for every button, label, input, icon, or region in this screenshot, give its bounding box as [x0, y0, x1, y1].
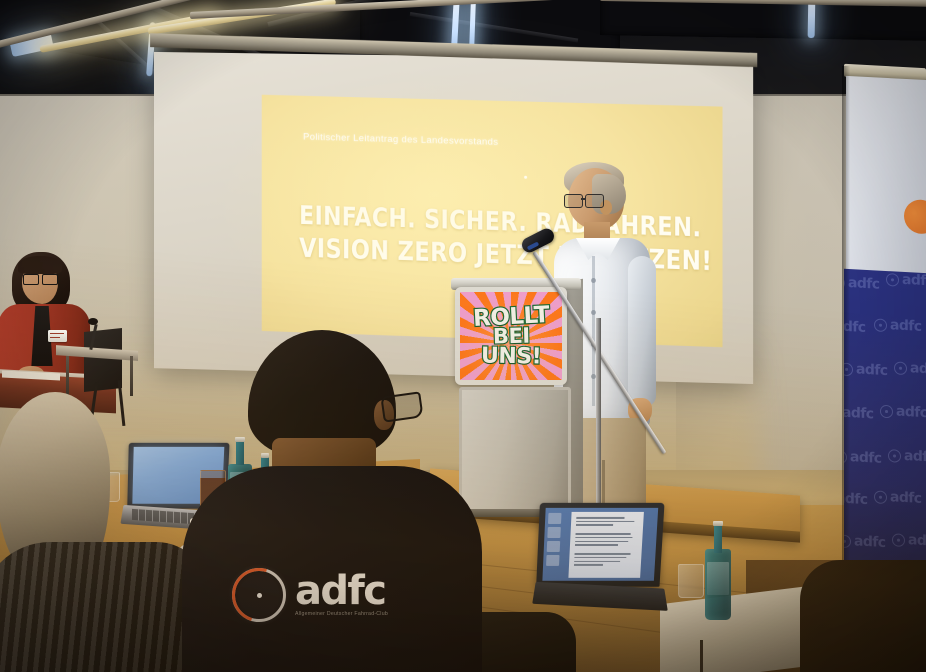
- banner-adfc-wordmark: adfc: [908, 532, 926, 550]
- adfc-logo-subtitle: Allgemeiner Deutscher Fahrrad-Club: [295, 611, 388, 617]
- banner-adfc-wordmark: adfc: [850, 449, 881, 467]
- seated-panelist: [0, 252, 96, 388]
- banner-adfc-logo: adfc: [874, 488, 921, 506]
- panelist-fringe: [18, 256, 62, 274]
- banner-adfc-logo: adfc: [888, 447, 926, 465]
- adfc-wheel-icon: [886, 273, 899, 287]
- document-text-line: [574, 561, 620, 562]
- slide-kicker-text: Politischer Leitantrag des Landesvorstan…: [303, 132, 498, 148]
- document-text-line: [576, 521, 635, 523]
- document-text-line: [576, 533, 631, 535]
- banner-adfc-logo: adfc: [844, 532, 885, 550]
- table-microphone-head: [88, 318, 98, 325]
- adfc-wheel-icon: [892, 533, 905, 547]
- banner-adfc-logo: adfc: [880, 403, 926, 421]
- banner-adfc-wordmark: adfc: [910, 360, 926, 378]
- banner-adfc-logo: adfc: [886, 271, 926, 289]
- panelist-glasses: [23, 274, 57, 284]
- adfc-wheel-icon: [232, 568, 286, 622]
- ceiling-light-tube: [808, 0, 816, 38]
- microphone-stand-pole: [596, 318, 601, 510]
- speaker-glasses: [564, 194, 606, 207]
- laptop-center-screen[interactable]: [542, 508, 658, 581]
- banner-adfc-wordmark: adfc: [856, 361, 887, 379]
- app-sidebar[interactable]: [545, 511, 564, 577]
- drinking-glass: [678, 564, 704, 598]
- banner-adfc-wordmark: adfc: [890, 489, 921, 507]
- right-table-leg: [700, 640, 703, 672]
- slide-decor-dot: [524, 176, 527, 179]
- flipchart-easel: [84, 328, 122, 392]
- adfc-man-glasses: [380, 391, 423, 422]
- banner-white-section: [846, 76, 926, 276]
- water-bottle: [705, 524, 731, 620]
- speaker-arm: [628, 256, 656, 406]
- banner-adfc-logo: adfc: [874, 316, 921, 334]
- adfc-logo: adfc Allgemeiner Deutscher Fahrrad-Club: [232, 568, 388, 622]
- photo-scene: Politischer Leitantrag des Landesvorstan…: [0, 0, 926, 672]
- document-text-line: [574, 557, 626, 558]
- document-text-line: [575, 553, 631, 554]
- adfc-wheel-icon: [874, 318, 887, 332]
- document-text-line: [576, 524, 613, 526]
- document-text-line: [576, 528, 638, 531]
- document-text-line: [575, 544, 618, 545]
- panelist-name-badge: [48, 330, 67, 342]
- adfc-wordmark: adfc: [295, 573, 388, 610]
- audience-member-blonde: [0, 392, 190, 672]
- banner-adfc-logo: adfc: [844, 361, 887, 379]
- document-text-line: [575, 537, 632, 539]
- sign-line-3: UNS!: [481, 345, 542, 367]
- banner-adfc-wordmark: adfc: [904, 448, 926, 466]
- adfc-wheel-icon: [894, 361, 907, 375]
- banner-adfc-wordmark: adfc: [902, 272, 926, 290]
- laptop-center-lid: [536, 503, 664, 587]
- banner-adfc-wordmark: adfc: [890, 317, 921, 335]
- adfc-wheel-icon: [880, 404, 893, 418]
- side-table-leg: [66, 356, 69, 396]
- document-page[interactable]: [568, 512, 644, 578]
- banner-adfc-logo: adfc: [892, 531, 926, 549]
- document-text-line: [576, 517, 625, 519]
- banner-orange-accent: [904, 199, 926, 235]
- banner-adfc-logo: adfc: [894, 359, 926, 377]
- audience-member-adfc-shirt: adfc Allgemeiner Deutscher Fahrrad-Club: [196, 330, 476, 672]
- banner-adfc-wordmark: adfc: [848, 275, 879, 293]
- foreground-dark-right: [800, 560, 926, 672]
- document-text-line: [575, 541, 628, 542]
- adfc-wheel-icon: [888, 449, 901, 463]
- document-text-line: [575, 548, 637, 551]
- laptop-center[interactable]: [534, 503, 666, 613]
- banner-adfc-wordmark: adfc: [896, 404, 926, 422]
- side-table-leg: [130, 356, 133, 396]
- adfc-wheel-icon: [874, 490, 887, 504]
- audience-blonde-striped-top: [0, 542, 210, 672]
- banner-adfc-wordmark: adfc: [854, 533, 885, 551]
- document-text-line: [574, 564, 603, 565]
